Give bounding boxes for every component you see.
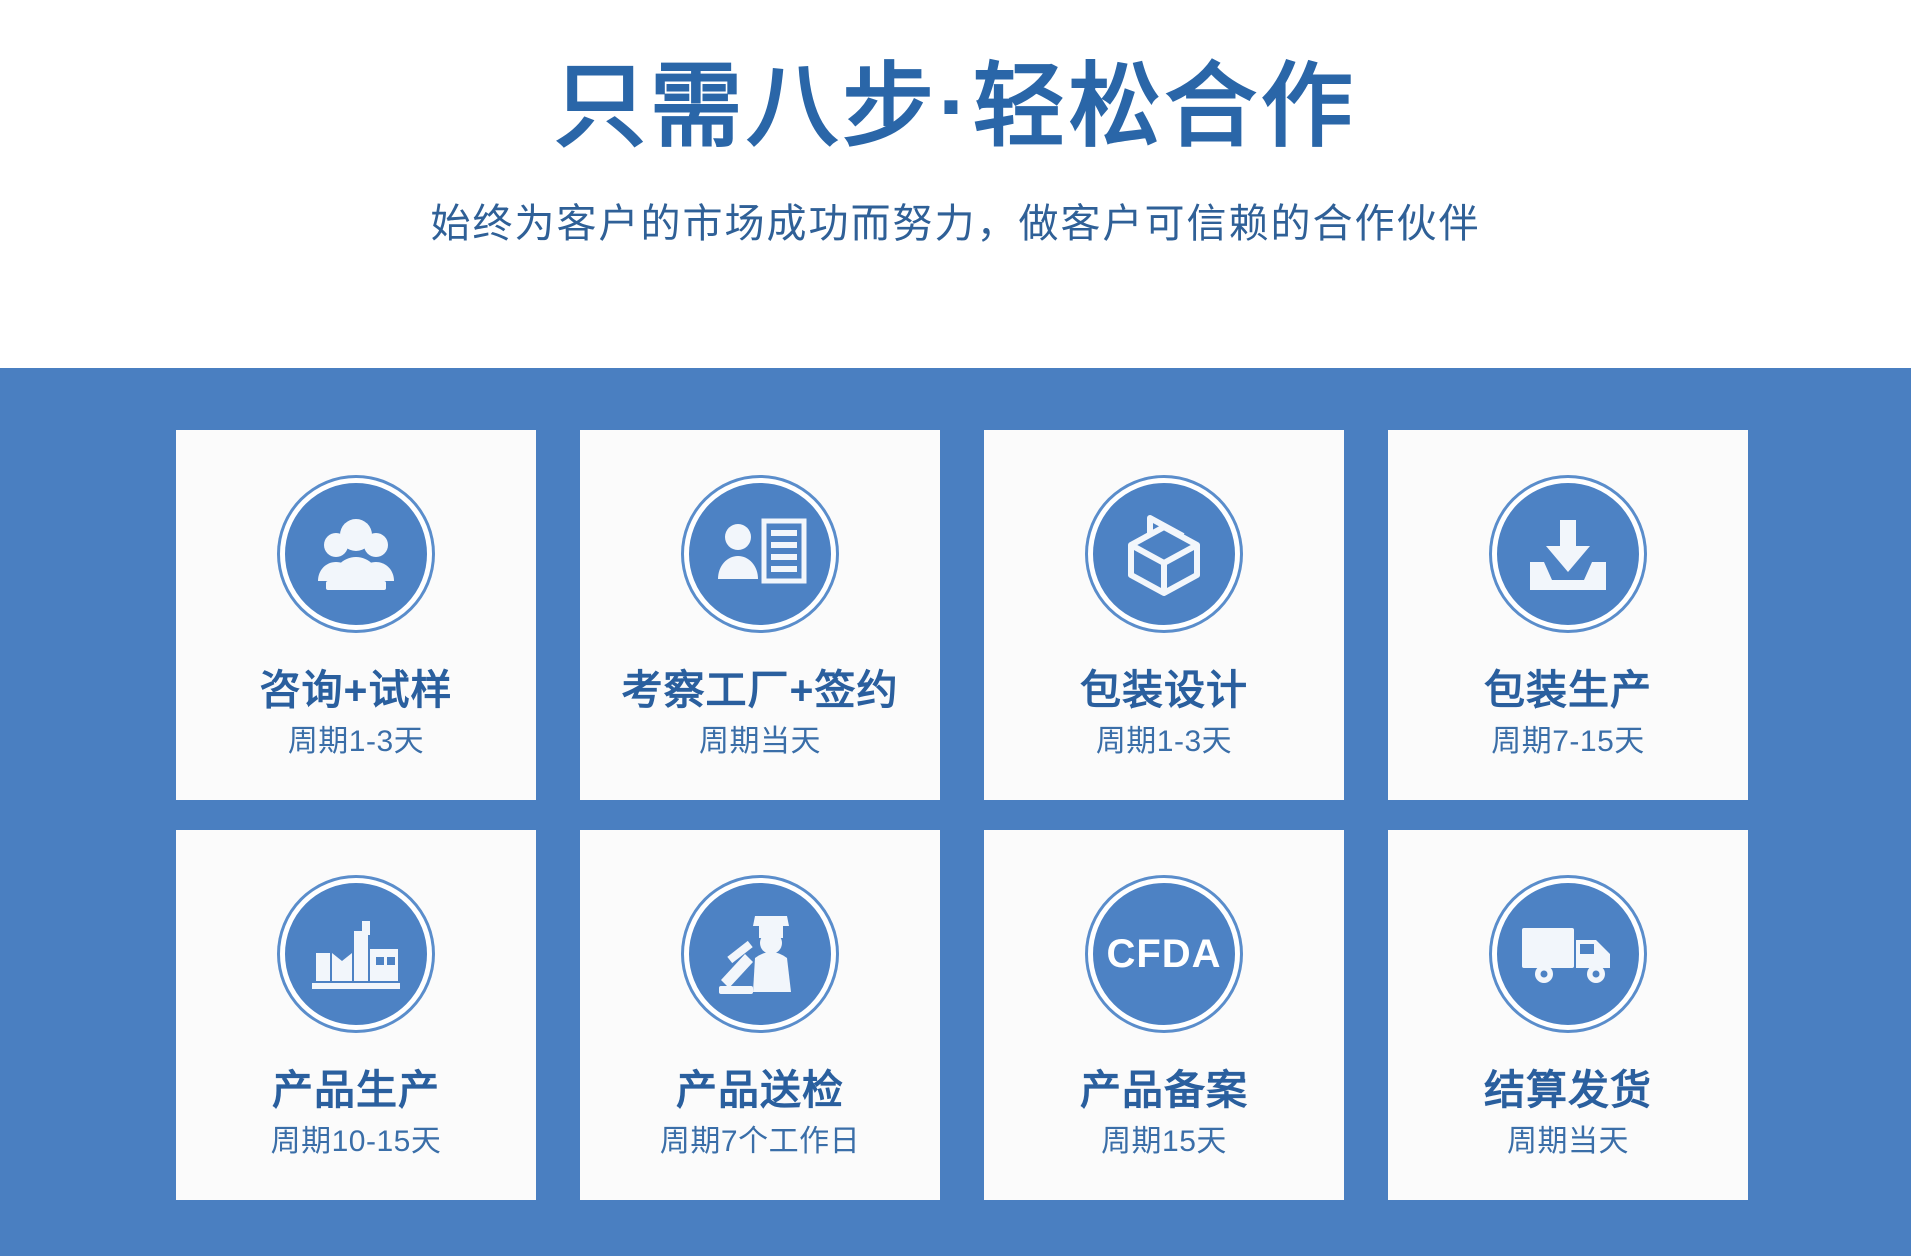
- open-box-icon: [1088, 478, 1240, 630]
- step-title: 产品生产: [272, 1068, 440, 1113]
- step-duration: 周期当天: [1507, 1125, 1629, 1158]
- person-document-icon: [684, 478, 836, 630]
- delivery-truck-icon: [1492, 878, 1644, 1030]
- step-duration: 周期10-15天: [271, 1125, 442, 1158]
- inspector-icon: [684, 878, 836, 1030]
- group-people-icon: [280, 478, 432, 630]
- step-card-8[interactable]: 结算发货 周期当天: [1388, 830, 1748, 1200]
- step-card-1[interactable]: 咨询+试样 周期1-3天: [176, 430, 536, 800]
- download-tray-icon: [1492, 478, 1644, 630]
- step-duration: 周期当天: [699, 725, 821, 758]
- step-duration: 周期7-15天: [1491, 725, 1645, 758]
- step-title: 包装设计: [1080, 668, 1248, 713]
- step-card-3[interactable]: 包装设计 周期1-3天: [984, 430, 1344, 800]
- step-duration: 周期1-3天: [288, 725, 424, 758]
- step-card-7[interactable]: CFDA 产品备案 周期15天: [984, 830, 1344, 1200]
- step-card-5[interactable]: 产品生产 周期10-15天: [176, 830, 536, 1200]
- step-title: 包装生产: [1484, 668, 1652, 713]
- step-card-4[interactable]: 包装生产 周期7-15天: [1388, 430, 1748, 800]
- step-title: 咨询+试样: [260, 668, 453, 713]
- cfda-badge-icon: CFDA: [1088, 878, 1240, 1030]
- steps-band: 咨询+试样 周期1-3天: [0, 368, 1911, 1256]
- page-title: 只需八步·轻松合作: [554, 58, 1357, 157]
- steps-grid: 咨询+试样 周期1-3天: [176, 430, 1748, 1200]
- step-title: 结算发货: [1484, 1068, 1652, 1113]
- step-card-2[interactable]: 考察工厂+签约 周期当天: [580, 430, 940, 800]
- step-duration: 周期15天: [1101, 1125, 1227, 1158]
- header-section: 只需八步·轻松合作 始终为客户的市场成功而努力，做客户可信赖的合作伙伴: [0, 0, 1911, 360]
- factory-icon: [280, 878, 432, 1030]
- page-subtitle: 始终为客户的市场成功而努力，做客户可信赖的合作伙伴: [431, 191, 1481, 249]
- step-title: 产品备案: [1080, 1068, 1248, 1113]
- step-title: 考察工厂+签约: [622, 668, 899, 713]
- step-duration: 周期1-3天: [1096, 725, 1232, 758]
- infographic-page: 只需八步·轻松合作 始终为客户的市场成功而努力，做客户可信赖的合作伙伴: [0, 0, 1911, 1256]
- step-title: 产品送检: [676, 1068, 844, 1113]
- step-duration: 周期7个工作日: [660, 1125, 860, 1158]
- step-card-6[interactable]: 产品送检 周期7个工作日: [580, 830, 940, 1200]
- cfda-label: CFDA: [1106, 932, 1221, 977]
